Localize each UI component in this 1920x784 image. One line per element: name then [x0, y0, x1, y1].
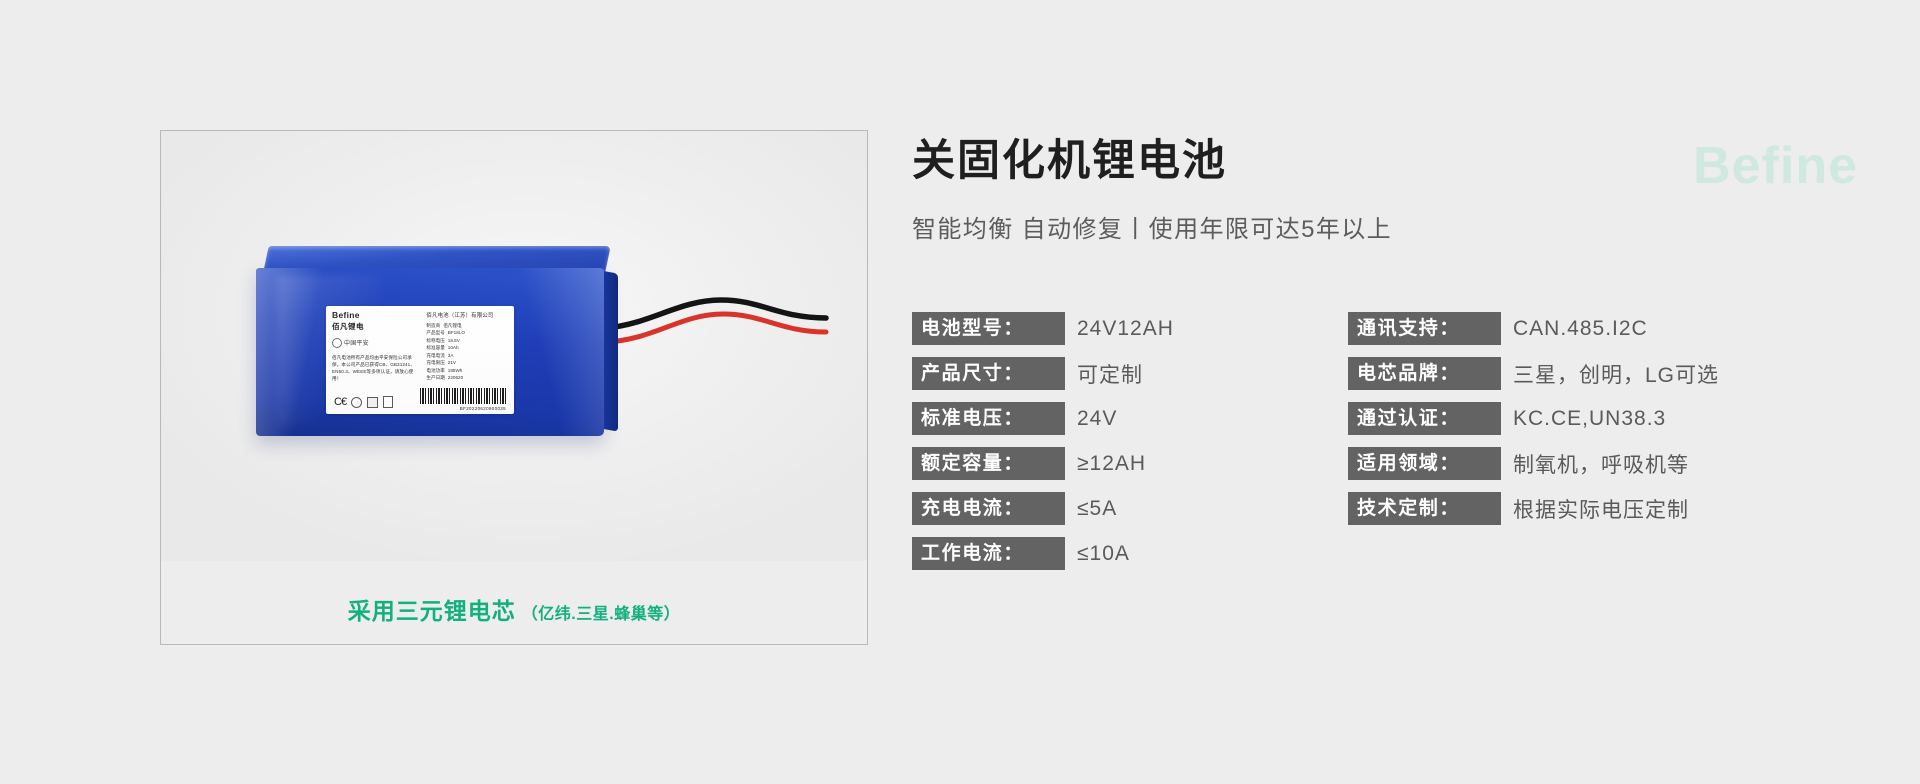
ce-mark-icon: C€ [334, 396, 346, 408]
sticker-field-name: 生产日期 [426, 374, 444, 381]
recycle-mark-icon [351, 397, 362, 408]
spec-value: 24V12AH [1077, 317, 1174, 341]
spec-label: 技术定制： [1348, 492, 1501, 525]
sticker-field-row: 生产日期 220620 [426, 374, 508, 381]
sticker-logo-en: Befine [332, 311, 420, 320]
spec-row: 产品尺寸： 可定制 [912, 357, 1348, 390]
sticker-field-value: BF18LO [448, 329, 465, 336]
battery-pack: Befine 佰凡锂电 中国平安 佰凡电池所有产品均由平安保险公司承保。本公司产… [256, 246, 616, 441]
sticker-right-column: 佰凡电池（江苏）有限公司 制造商 佰凡锂电 产品型号 BF18LO 标称电压 [426, 311, 508, 409]
spec-label: 标准电压： [912, 402, 1065, 435]
caption-sub-text: （亿纬.三星.蜂巢等） [522, 606, 680, 623]
spec-value: 24V [1077, 407, 1117, 431]
weee-bin-icon [383, 396, 393, 408]
pingan-logo-icon [332, 338, 342, 348]
spec-row: 通讯支持： CAN.485.I2C [1348, 312, 1818, 345]
spec-table: 电池型号： 24V12AH 产品尺寸： 可定制 标准电压： 24V 额定容量： … [912, 312, 1880, 582]
spec-row: 适用领域： 制氧机，呼吸机等 [1348, 447, 1818, 480]
spec-label: 充电电流： [912, 492, 1065, 525]
sticker-company-name: 佰凡电池（江苏）有限公司 [426, 311, 508, 319]
spec-label: 通过认证： [1348, 402, 1501, 435]
spec-value: 可定制 [1077, 359, 1143, 389]
sticker-left-column: Befine 佰凡锂电 中国平安 佰凡电池所有产品均由平安保险公司承保。本公司产… [332, 311, 420, 409]
spec-label: 产品尺寸： [912, 357, 1065, 390]
product-banner-page: Befine 佰凡锂电 中国平安 佰凡电池所有产品均由平安保险公司承保。本公司产… [0, 0, 1920, 784]
page-subtitle: 智能均衡 自动修复丨使用年限可达5年以上 [912, 209, 1880, 244]
sticker-field-row: 充电限压 21V [426, 359, 508, 366]
sticker-field-name: 电池功率 [426, 367, 444, 374]
spec-label: 适用领域： [1348, 447, 1501, 480]
spec-value: ≤10A [1077, 542, 1130, 566]
spec-label: 通讯支持： [1348, 312, 1501, 345]
sticker-field-value: 佰凡锂电 [443, 322, 461, 329]
spec-value: 根据实际电压定制 [1513, 494, 1689, 524]
spec-label: 工作电流： [912, 537, 1065, 570]
spec-value: CAN.485.I2C [1513, 317, 1648, 341]
spec-value: 制氧机，呼吸机等 [1513, 449, 1689, 479]
barcode-number: BF20220620900035 [460, 406, 506, 411]
sticker-field-value: 185Wh [448, 367, 463, 374]
barcode-icon [420, 388, 506, 404]
sticker-field-row: 产品型号 BF18LO [426, 329, 508, 336]
battery-wires [601, 266, 831, 386]
product-content: Befine 关固化机锂电池 智能均衡 自动修复丨使用年限可达5年以上 电池型号… [912, 130, 1880, 744]
spec-label: 电池型号： [912, 312, 1065, 345]
spec-value: ≥12AH [1077, 452, 1146, 476]
product-photo: Befine 佰凡锂电 中国平安 佰凡电池所有产品均由平安保险公司承保。本公司产… [161, 131, 867, 561]
sticker-field-value: 21V [448, 359, 456, 366]
sticker-field-value: 3A [448, 352, 454, 359]
sticker-field-row: 标准容量 10Ah [426, 344, 508, 351]
sticker-cert-icons: C€ [334, 396, 393, 408]
spec-row: 额定容量： ≥12AH [912, 447, 1348, 480]
spec-column-right: 通讯支持： CAN.485.I2C 电芯品牌： 三星，创明，LG可选 通过认证：… [1348, 312, 1818, 582]
sticker-field-row: 制造商 佰凡锂电 [426, 322, 508, 329]
spec-value: KC.CE,UN38.3 [1513, 407, 1666, 431]
sticker-disclaimer: 佰凡电池所有产品均由平安保险公司承保。本公司产品已获得CB、GB31241、EN… [332, 354, 420, 382]
sticker-field-name: 制造商 [426, 322, 440, 329]
spec-row: 技术定制： 根据实际电压定制 [1348, 492, 1818, 525]
sticker-field-name: 充电电流 [426, 352, 444, 359]
caption-main-text: 采用三元锂电芯 [348, 598, 516, 624]
sticker-field-name: 产品型号 [426, 329, 444, 336]
sticker-field-row: 标称电压 18.5V [426, 337, 508, 344]
spec-row: 通过认证： KC.CE,UN38.3 [1348, 402, 1818, 435]
sticker-field-value: 18.5V [448, 337, 460, 344]
battery-front-face: Befine 佰凡锂电 中国平安 佰凡电池所有产品均由平安保险公司承保。本公司产… [256, 268, 604, 436]
spec-row: 工作电流： ≤10A [912, 537, 1348, 570]
spec-row: 充电电流： ≤5A [912, 492, 1348, 525]
spec-label: 额定容量： [912, 447, 1065, 480]
sticker-partner: 中国平安 [332, 338, 420, 348]
sticker-field-row: 电池功率 185Wh [426, 367, 508, 374]
spec-label: 电芯品牌： [1348, 357, 1501, 390]
sticker-logo-cn: 佰凡锂电 [332, 321, 420, 332]
spec-column-left: 电池型号： 24V12AH 产品尺寸： 可定制 标准电压： 24V 额定容量： … [912, 312, 1348, 582]
sticker-field-row: 充电电流 3A [426, 352, 508, 359]
battery-spec-sticker: Befine 佰凡锂电 中国平安 佰凡电池所有产品均由平安保险公司承保。本公司产… [326, 306, 514, 414]
spec-row: 电芯品牌： 三星，创明，LG可选 [1348, 357, 1818, 390]
sticker-field-name: 标准容量 [426, 344, 444, 351]
sticker-field-value: 10Ah [448, 344, 459, 351]
product-image-frame: Befine 佰凡锂电 中国平安 佰凡电池所有产品均由平安保险公司承保。本公司产… [160, 130, 868, 645]
spec-row: 标准电压： 24V [912, 402, 1348, 435]
sticker-field-value: 220620 [448, 374, 463, 381]
sticker-field-name: 充电限压 [426, 359, 444, 366]
product-image-caption: 采用三元锂电芯（亿纬.三星.蜂巢等） [161, 592, 867, 626]
spec-row: 电池型号： 24V12AH [912, 312, 1348, 345]
sticker-partner-name: 中国平安 [344, 338, 369, 347]
befine-brand-logo: Befine [1693, 140, 1858, 192]
spec-value: 三星，创明，LG可选 [1513, 359, 1719, 389]
spec-value: ≤5A [1077, 497, 1117, 521]
sticker-field-name: 标称电压 [426, 337, 444, 344]
rohs-mark-icon [367, 397, 378, 408]
